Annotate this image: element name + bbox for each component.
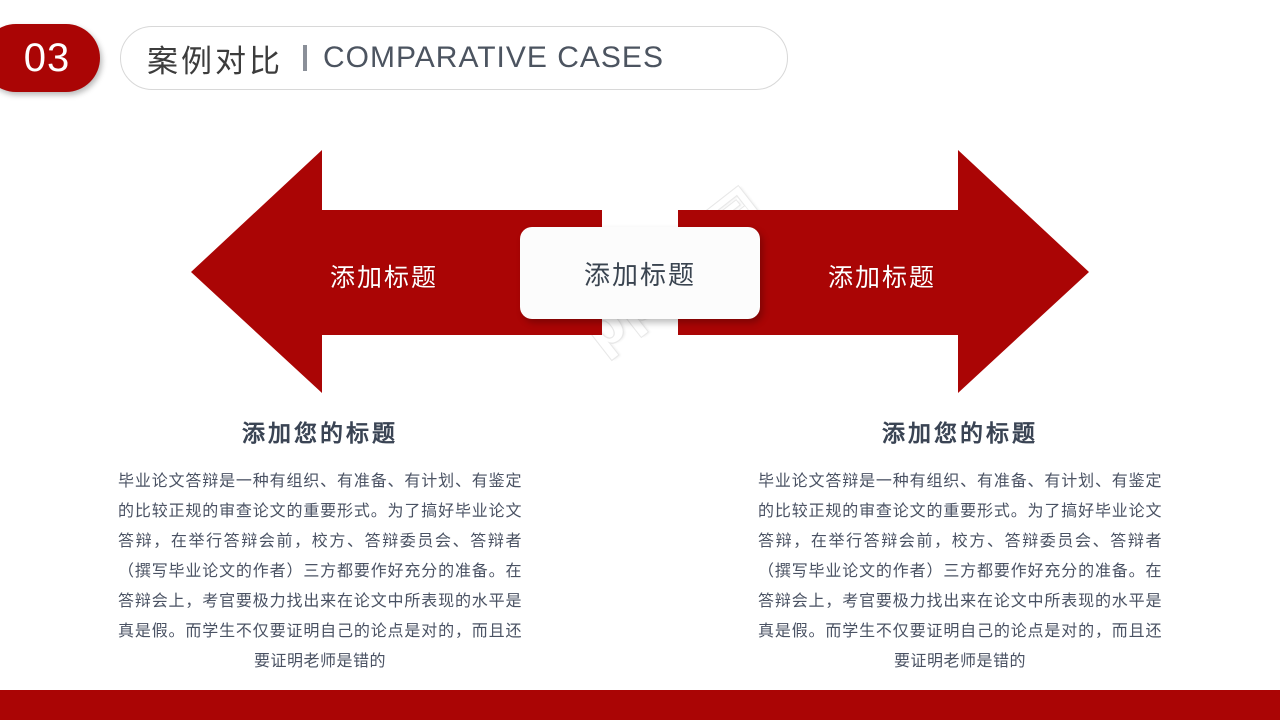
- page-title-cn: 案例对比: [147, 36, 283, 81]
- column-left-body: 毕业论文答辩是一种有组织、有准备、有计划、有鉴定的比较正规的审查论文的重要形式。…: [118, 466, 522, 676]
- page-title-en: COMPARATIVE CASES: [323, 41, 664, 75]
- page-title-pill: 案例对比 COMPARATIVE CASES: [120, 26, 788, 90]
- center-title-card[interactable]: 添加标题: [520, 227, 760, 319]
- title-separator-icon: [303, 45, 307, 71]
- right-arrow-label: 添加标题: [828, 258, 936, 294]
- column-right-body: 毕业论文答辩是一种有组织、有准备、有计划、有鉴定的比较正规的审查论文的重要形式。…: [758, 466, 1162, 676]
- slide-canvas: ppt家园 03 案例对比 COMPARATIVE CASES 添加标题 添加标…: [0, 0, 1280, 720]
- left-arrow-label: 添加标题: [330, 258, 438, 294]
- center-card-label: 添加标题: [584, 255, 696, 292]
- footer-accent-bar: [0, 690, 1280, 720]
- column-left-title: 添加您的标题: [118, 414, 522, 448]
- column-left: 添加您的标题 毕业论文答辩是一种有组织、有准备、有计划、有鉴定的比较正规的审查论…: [0, 414, 640, 664]
- section-number-badge: 03: [0, 24, 100, 92]
- column-right-title: 添加您的标题: [758, 414, 1162, 448]
- comparison-columns: 添加您的标题 毕业论文答辩是一种有组织、有准备、有计划、有鉴定的比较正规的审查论…: [0, 414, 1280, 664]
- column-right: 添加您的标题 毕业论文答辩是一种有组织、有准备、有计划、有鉴定的比较正规的审查论…: [640, 414, 1280, 664]
- section-number-label: 03: [12, 38, 71, 78]
